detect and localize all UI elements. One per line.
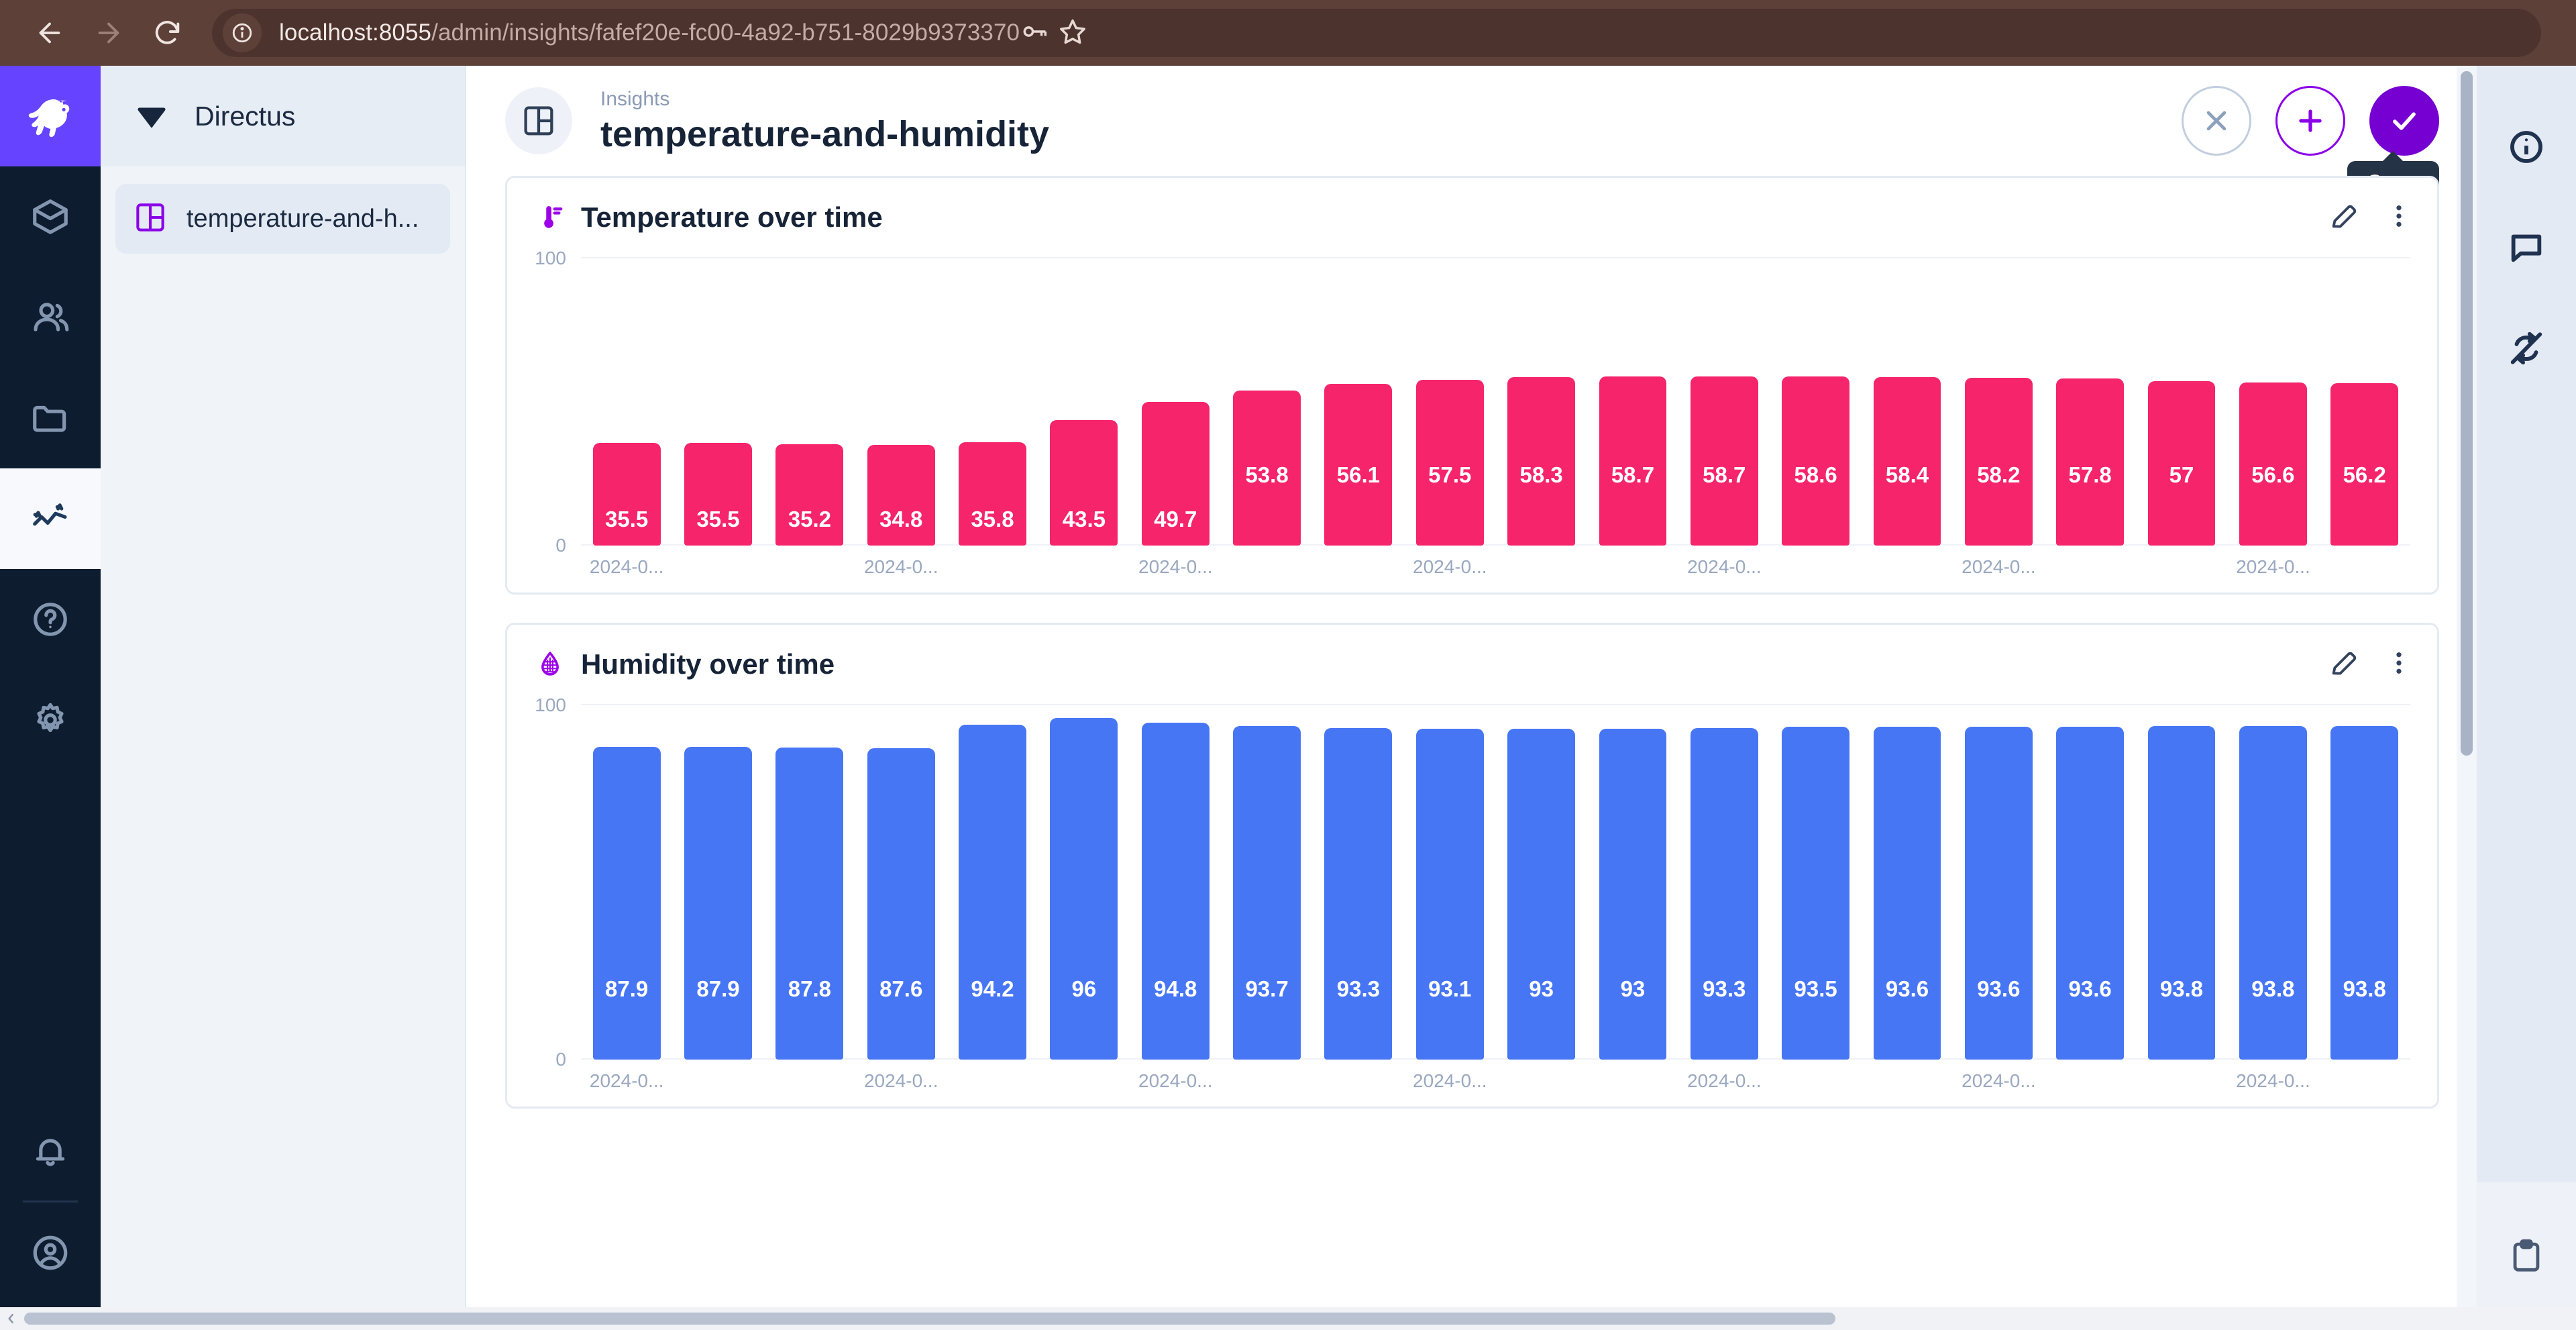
- bar[interactable]: 93.6: [2056, 727, 2124, 1060]
- bar[interactable]: 57: [2148, 381, 2216, 546]
- bar-slot: 49.7: [1130, 257, 1221, 546]
- bar-slot: 93.6: [1862, 704, 1953, 1060]
- bar[interactable]: 58.4: [1874, 377, 1941, 546]
- bar-slot: 93.8: [2227, 704, 2318, 1060]
- x-axis-tick-label: 2024-0...: [1413, 1070, 1487, 1092]
- bar[interactable]: 34.8: [867, 445, 935, 546]
- page-header: Insights temperature-and-humidity: [466, 66, 2477, 176]
- dashboard-panel-icon: [521, 103, 557, 139]
- more-vertical-icon[interactable]: [2383, 648, 2414, 682]
- bar-value-label: 58.6: [1794, 462, 1837, 488]
- bar-value-label: 93.6: [1886, 976, 1929, 1002]
- bar-value-label: 57: [2169, 462, 2194, 488]
- y-axis-min-label: 0: [555, 1049, 581, 1070]
- bar[interactable]: 35.2: [775, 444, 843, 546]
- bar-value-label: 49.7: [1154, 507, 1197, 532]
- x-axis-tick-label: 2024-0...: [1138, 556, 1213, 578]
- dashboard-list: temperature-and-h...: [101, 166, 465, 254]
- clipboard-icon: [2507, 1237, 2546, 1276]
- bar-value-label: 57.5: [1428, 462, 1471, 488]
- bar[interactable]: 35.5: [684, 443, 752, 546]
- bar[interactable]: 87.9: [593, 747, 661, 1060]
- bar-value-label: 93.5: [1794, 976, 1837, 1002]
- bar-value-label: 58.7: [1703, 462, 1746, 488]
- bar[interactable]: 93.5: [1782, 727, 1849, 1060]
- bar[interactable]: 96: [1050, 718, 1118, 1060]
- project-name: Directus: [195, 101, 295, 132]
- bar-slot: 87.9: [581, 704, 672, 1060]
- insights-chart-icon: [30, 498, 71, 540]
- bar-value-label: 56.6: [2251, 462, 2294, 488]
- bar-slot: 58.4: [1862, 257, 1953, 546]
- password-key-icon[interactable]: [1020, 16, 1051, 50]
- panel-area: Temperature over time: [466, 176, 2477, 1330]
- directus-app: Directus temperature-and-h...: [0, 66, 2576, 1330]
- close-x-icon: [2199, 103, 2234, 138]
- bar[interactable]: 58.6: [1782, 376, 1849, 546]
- bar-value-label: 93.6: [2069, 976, 2112, 1002]
- bar-value-label: 94.2: [971, 976, 1014, 1002]
- horizontal-scrollbar-track[interactable]: [0, 1307, 2576, 1330]
- bar[interactable]: 93.6: [1874, 727, 1941, 1060]
- bell-icon: [30, 1129, 71, 1171]
- user-circle-icon: [30, 1232, 71, 1274]
- main-content: Insights temperature-and-humidity: [466, 66, 2477, 1330]
- notifications-button[interactable]: [0, 1100, 101, 1200]
- bar-value-label: 35.5: [696, 507, 739, 532]
- url-text: localhost:8055/admin/insights/fafef20e-f…: [279, 19, 1020, 46]
- bar-value-label: 87.6: [879, 976, 922, 1002]
- sidebar-item-insights[interactable]: [0, 468, 101, 569]
- sidebar-item-content[interactable]: [0, 166, 101, 267]
- bar[interactable]: 35.8: [959, 442, 1026, 546]
- bar-slot: 35.8: [947, 257, 1038, 546]
- bar[interactable]: 57.5: [1416, 380, 1484, 546]
- bar[interactable]: 93.8: [2330, 726, 2398, 1060]
- module-rail: [0, 66, 101, 1330]
- breadcrumb[interactable]: Insights: [600, 87, 1049, 112]
- bar-slot: 57.8: [2045, 257, 2136, 546]
- panel-header: Temperature over time: [507, 178, 2437, 257]
- bar-slot: 93.3: [1678, 704, 1770, 1060]
- x-axis-tick-label: 2024-0...: [1687, 1070, 1762, 1092]
- panel-humidity-over-time[interactable]: Humidity over time: [505, 623, 2439, 1109]
- bar[interactable]: 93: [1599, 729, 1667, 1060]
- panel-header: Humidity over time: [507, 625, 2437, 704]
- x-axis-humidity: 2024-0...2024-0...2024-0...2024-0...2024…: [581, 1060, 2410, 1107]
- bar-slot: 94.2: [947, 704, 1038, 1060]
- bar[interactable]: 58.2: [1965, 378, 2033, 546]
- bar[interactable]: 93.3: [1690, 728, 1758, 1060]
- bar[interactable]: 87.8: [775, 748, 843, 1060]
- forward-button[interactable]: [79, 3, 138, 62]
- bar-value-label: 93.3: [1703, 976, 1746, 1002]
- bar-value-label: 43.5: [1063, 507, 1106, 532]
- comment-bubble-icon: [2507, 228, 2546, 267]
- address-bar[interactable]: localhost:8055/admin/insights/fafef20e-f…: [212, 9, 2541, 57]
- help-circle-icon: [30, 599, 71, 640]
- bar[interactable]: 58.7: [1690, 376, 1758, 546]
- bar[interactable]: 58.3: [1507, 377, 1575, 546]
- bar-slot: 58.3: [1495, 257, 1587, 546]
- panel-title: Humidity over time: [581, 648, 835, 680]
- bar-slot: 96: [1038, 704, 1130, 1060]
- sidebar-item-docs[interactable]: [0, 569, 101, 670]
- bar-slot: 93.3: [1313, 704, 1404, 1060]
- bar-value-label: 93: [1621, 976, 1646, 1002]
- bar[interactable]: 43.5: [1050, 420, 1118, 546]
- bar-value-label: 93.8: [2160, 976, 2203, 1002]
- bar-value-label: 93.7: [1245, 976, 1288, 1002]
- x-axis-tick-label: 2024-0...: [1962, 556, 2036, 578]
- browser-toolbar: localhost:8055/admin/insights/fafef20e-f…: [0, 0, 2576, 66]
- bar-slot: 93.8: [2319, 704, 2410, 1060]
- bar-slot: 93: [1587, 704, 1678, 1060]
- site-info-icon[interactable]: [223, 13, 262, 52]
- y-axis-max-label: 100: [535, 695, 581, 716]
- dashboard-panel-icon: [133, 200, 168, 238]
- bar-slot: 57.5: [1404, 257, 1495, 546]
- x-axis-tick-label: 2024-0...: [2236, 556, 2310, 578]
- reload-button[interactable]: [138, 3, 197, 62]
- sidebar-item-temperature-and-humidity[interactable]: temperature-and-h...: [115, 184, 450, 254]
- plus-icon: [2293, 103, 2328, 138]
- bar-slot: 93: [1495, 704, 1587, 1060]
- chart-plot: 100 0 87.987.987.887.694.29694.893.793.3…: [581, 704, 2410, 1060]
- bar-slot: 87.8: [764, 704, 855, 1060]
- x-axis-tick-label: 2024-0...: [1413, 556, 1487, 578]
- y-axis-max-label: 100: [535, 248, 581, 269]
- bar-slot: 58.7: [1587, 257, 1678, 546]
- box-icon: [30, 196, 71, 238]
- bar-slot: 53.8: [1221, 257, 1312, 546]
- pencil-icon[interactable]: [2328, 648, 2359, 682]
- sidebar-item-label: temperature-and-h...: [186, 205, 419, 234]
- bar-slot: 93.1: [1404, 704, 1495, 1060]
- users-icon: [30, 297, 71, 338]
- bar-slot: 57: [2136, 257, 2227, 546]
- panel-temperature-over-time[interactable]: Temperature over time: [505, 176, 2439, 595]
- bar[interactable]: 56.6: [2239, 382, 2307, 546]
- page-icon: [505, 87, 572, 154]
- vertical-scrollbar-thumb[interactable]: [2461, 71, 2473, 756]
- bar[interactable]: 93.8: [2148, 726, 2216, 1060]
- bar[interactable]: 58.7: [1599, 376, 1667, 546]
- bar-value-label: 87.9: [696, 976, 739, 1002]
- bar-slot: 93.6: [2045, 704, 2136, 1060]
- x-axis-tick-label: 2024-0...: [864, 1070, 938, 1092]
- cancel-button[interactable]: [2182, 86, 2251, 156]
- bar-value-label: 93.8: [2343, 976, 2386, 1002]
- bar[interactable]: 93.6: [1965, 727, 2033, 1060]
- bar-value-label: 58.7: [1611, 462, 1654, 488]
- y-axis-min-label: 0: [555, 535, 581, 556]
- bar-value-label: 34.8: [879, 507, 922, 532]
- page-title: temperature-and-humidity: [600, 113, 1049, 155]
- bar-slot: 34.8: [855, 257, 947, 546]
- comments-button[interactable]: [2477, 197, 2576, 298]
- bar-slot: 93.8: [2136, 704, 2227, 1060]
- bar-value-label: 58.3: [1519, 462, 1562, 488]
- bar-slot: 58.7: [1678, 257, 1770, 546]
- bar-slot: 56.6: [2227, 257, 2318, 546]
- bar-value-label: 57.8: [2069, 462, 2112, 488]
- chart-plot: 100 0 35.535.535.234.835.843.549.753.856…: [581, 257, 2410, 546]
- bar[interactable]: 94.8: [1142, 723, 1210, 1060]
- header-actions: Save: [2182, 86, 2439, 156]
- chart-humidity: 100 0 87.987.987.887.694.29694.893.793.3…: [507, 704, 2437, 1107]
- bar-slot: 58.2: [1953, 257, 2044, 546]
- bar-value-label: 56.2: [2343, 462, 2386, 488]
- bar[interactable]: 94.2: [959, 725, 1026, 1060]
- bar-slot: 87.6: [855, 704, 947, 1060]
- x-axis-temperature: 2024-0...2024-0...2024-0...2024-0...2024…: [581, 546, 2410, 593]
- x-axis-tick-label: 2024-0...: [1138, 1070, 1213, 1092]
- add-panel-button[interactable]: [2275, 86, 2345, 156]
- bar-slot: 56.2: [2319, 257, 2410, 546]
- bar[interactable]: 93.7: [1233, 726, 1301, 1060]
- horizontal-scrollbar-thumb[interactable]: [24, 1313, 1835, 1325]
- bar-value-label: 93.3: [1337, 976, 1380, 1002]
- bar[interactable]: 93: [1507, 729, 1575, 1060]
- bar-slot: 56.1: [1313, 257, 1404, 546]
- account-button[interactable]: [0, 1203, 101, 1303]
- x-axis-tick-label: 2024-0...: [2236, 1070, 2310, 1092]
- bar-value-label: 58.2: [1977, 462, 2020, 488]
- save-button[interactable]: [2369, 86, 2439, 156]
- info-circle-icon: [2507, 127, 2546, 166]
- bar-slot: 35.5: [672, 257, 763, 546]
- x-axis-tick-label: 2024-0...: [590, 1070, 664, 1092]
- bar-series-humidity: 87.987.987.887.694.29694.893.793.393.193…: [581, 704, 2410, 1060]
- directus-rabbit-logo[interactable]: [0, 66, 101, 166]
- bar[interactable]: 56.1: [1324, 384, 1392, 546]
- pencil-icon[interactable]: [2328, 201, 2359, 235]
- bar[interactable]: 57.8: [2056, 378, 2124, 546]
- back-button[interactable]: [20, 3, 79, 62]
- directus-diamond-icon: [133, 96, 170, 137]
- bar-value-label: 58.4: [1886, 462, 1929, 488]
- bar-value-label: 35.5: [605, 507, 648, 532]
- gear-icon: [30, 699, 71, 741]
- sync-disabled-icon: [2507, 329, 2546, 368]
- bar-slot: 35.5: [581, 257, 672, 546]
- bar-value-label: 93.1: [1428, 976, 1471, 1002]
- bar[interactable]: 87.9: [684, 747, 752, 1060]
- bar-value-label: 35.8: [971, 507, 1014, 532]
- chart-temperature: 100 0 35.535.535.234.835.843.549.753.856…: [507, 257, 2437, 593]
- bar[interactable]: 56.2: [2330, 383, 2398, 546]
- bar-value-label: 87.8: [788, 976, 831, 1002]
- bar-slot: 58.6: [1770, 257, 1861, 546]
- right-sidebar: [2477, 66, 2576, 1330]
- bar-slot: 93.6: [1953, 704, 2044, 1060]
- bar-value-label: 56.1: [1337, 462, 1380, 488]
- bar[interactable]: 49.7: [1142, 402, 1210, 546]
- thermometer-icon: [534, 201, 566, 234]
- sidebar-item-users[interactable]: [0, 267, 101, 368]
- bar[interactable]: 87.6: [867, 748, 935, 1060]
- project-header[interactable]: Directus: [101, 66, 465, 166]
- bar-value-label: 96: [1072, 976, 1097, 1002]
- bar-series-temperature: 35.535.535.234.835.843.549.753.856.157.5…: [581, 257, 2410, 546]
- bar-slot: 93.5: [1770, 704, 1861, 1060]
- bookmark-star-icon[interactable]: [1057, 16, 1088, 50]
- info-button[interactable]: [2477, 97, 2576, 197]
- bar[interactable]: 53.8: [1233, 391, 1301, 546]
- panel-title: Temperature over time: [581, 201, 883, 234]
- bar-slot: 43.5: [1038, 257, 1130, 546]
- folder-icon: [30, 397, 71, 439]
- scroll-left-arrow[interactable]: [0, 1307, 23, 1330]
- x-axis-tick-label: 2024-0...: [590, 556, 664, 578]
- bar-slot: 35.2: [764, 257, 855, 546]
- check-icon: [2387, 103, 2422, 138]
- sidebar-item-settings[interactable]: [0, 670, 101, 770]
- auto-refresh-toggle[interactable]: [2477, 298, 2576, 399]
- bar[interactable]: 93.1: [1416, 729, 1484, 1060]
- bar-slot: 87.9: [672, 704, 763, 1060]
- bar-value-label: 94.8: [1154, 976, 1197, 1002]
- more-vertical-icon[interactable]: [2383, 201, 2414, 235]
- bar-slot: 93.7: [1221, 704, 1312, 1060]
- water-drop-icon: [534, 648, 566, 680]
- bar-value-label: 53.8: [1245, 462, 1288, 488]
- bar-value-label: 93.8: [2251, 976, 2294, 1002]
- sidebar-item-files[interactable]: [0, 368, 101, 468]
- bar[interactable]: 93.3: [1324, 728, 1392, 1060]
- bar[interactable]: 93.8: [2239, 726, 2307, 1060]
- navigation-sidebar: Directus temperature-and-h...: [101, 66, 466, 1330]
- bar-slot: 94.8: [1130, 704, 1221, 1060]
- bar-value-label: 87.9: [605, 976, 648, 1002]
- bar-value-label: 93.6: [1977, 976, 2020, 1002]
- bar-value-label: 93: [1529, 976, 1554, 1002]
- x-axis-tick-label: 2024-0...: [1687, 556, 1762, 578]
- x-axis-tick-label: 2024-0...: [1962, 1070, 2036, 1092]
- bar-value-label: 35.2: [788, 507, 831, 532]
- bar[interactable]: 35.5: [593, 443, 661, 546]
- x-axis-tick-label: 2024-0...: [864, 556, 938, 578]
